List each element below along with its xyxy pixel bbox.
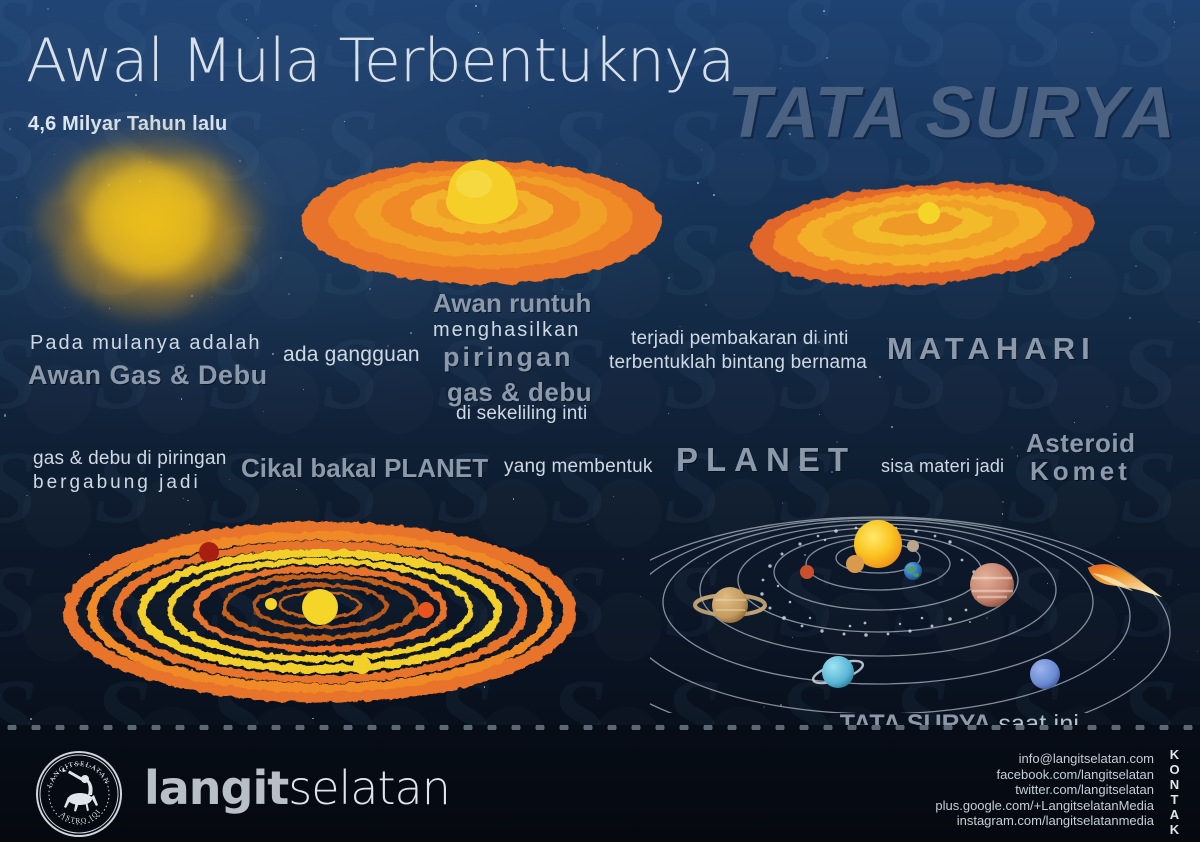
accretion-disk-with-star-illustration [742,168,1102,298]
footer: LANGITSELATAN ASTRO IQI langitselatan [0,725,1200,842]
contact-gplus[interactable]: plus.google.com/+LangitselatanMedia [935,798,1154,814]
centaur-figure [62,769,98,812]
contact-email[interactable]: info@langitselatan.com [935,751,1154,767]
footer-separator [0,725,1200,730]
label-matahari: MATAHARI [887,331,1096,367]
langitselatan-logo: LANGITSELATAN ASTRO IQI [36,751,122,837]
body-mars [800,565,814,579]
proto-sun [302,589,338,625]
caption-collapse-line3: piringan [443,342,574,373]
contact-list: info@langitselatan.com facebook.com/lang… [935,751,1154,829]
caption-collapse-line1: Awan runtuh [433,288,591,319]
caption-accretion-line1: gas & debu di piringan [33,448,226,470]
caption-forming: yang membentuk [504,456,653,478]
caption-cloud-bold: Awan Gas & Debu [28,360,268,391]
page-title: Awal Mula Terbentuknya [26,26,734,96]
caption-disturbance: ada gangguan [283,343,420,367]
body-merkurius [907,540,919,552]
caption-cloud-light: Pada mulanya adalah [30,332,261,355]
caption-collapse-line2: menghasilkan [433,319,580,342]
proto-solar-system-illustration [62,512,582,712]
body-venus [846,555,864,573]
contact-instagram[interactable]: instagram.com/langitselatanmedia [935,813,1154,829]
infographic-poster: SSSSSSSSSSSSSSSSSSSSSSSSSSSSSSSSSSSSSSSS… [0,0,1200,842]
caption-leftover: sisa materi jadi [881,456,1004,477]
label-planet: PLANET [676,441,856,479]
brand-wordmark: langitselatan [144,761,450,815]
big-title-tata-surya: TATA SURYA [727,72,1176,154]
body-komet [1085,559,1167,600]
caption-collapse-line5: di sekeliling inti [456,403,587,425]
contact-facebook[interactable]: facebook.com/langitselatan [935,767,1154,783]
contact-twitter[interactable]: twitter.com/langitselatan [935,782,1154,798]
label-asteroid: Asteroid [1026,428,1135,459]
caption-ignition-line1: terjadi pembakaran di inti [631,328,848,350]
body-jupiter [970,563,1014,607]
label-cikal-bakal-planet: Cikal bakal PLANET [241,453,488,484]
svg-text:ASTRO IQI: ASTRO IQI [59,807,103,825]
gas-dust-cloud-illustration [8,112,298,342]
caption-accretion-line2: bergabung jadi [33,472,201,494]
svg-text:LANGITSELATAN: LANGITSELATAN [46,760,111,789]
label-komet: Komet [1030,456,1131,487]
caption-ignition-line2: terbentuklah bintang bernama [609,352,867,374]
kontak-vertical-label: KONTAK [1166,747,1184,837]
collapsing-disk-illustration [296,140,666,300]
